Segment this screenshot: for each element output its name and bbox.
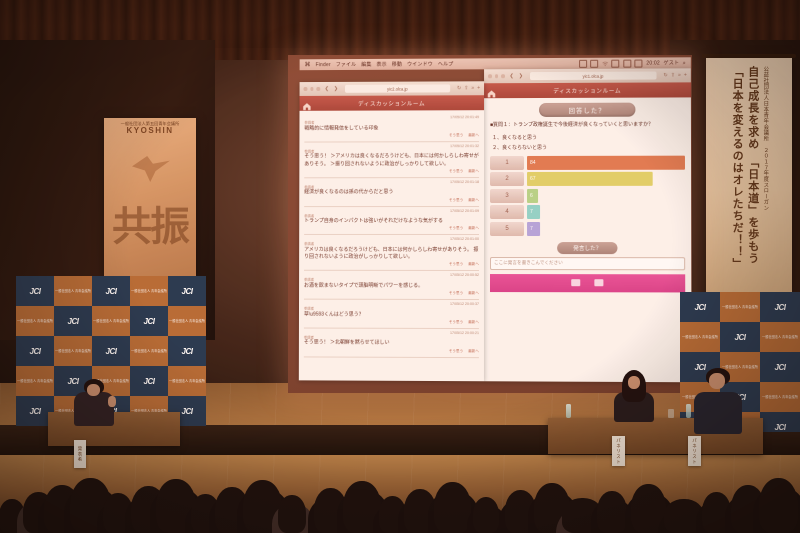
agree-button[interactable]: そう思う <box>449 169 463 174</box>
backdrop-tile: JCI <box>760 292 800 322</box>
backdrop-tile: JCI <box>760 412 800 432</box>
table-row: 2 67 <box>490 172 685 186</box>
browser-window-discussion[interactable]: ❮ ❯ yic2.olca.jp ↻ ⇪ » + ディスカッションルーム <box>299 81 484 381</box>
slogan-banner: 公益社団法人日本青年会議所 ２０１７年度スローガン 自己成長を求め 「日本道」を… <box>706 58 792 298</box>
send-icon[interactable] <box>594 279 603 286</box>
forward-icon[interactable]: ❯ <box>334 86 338 92</box>
audience-member-head <box>278 495 306 533</box>
reply-button[interactable]: 最新へ <box>468 133 479 138</box>
screen-share-icon[interactable] <box>579 59 587 67</box>
backdrop-tile: JCI <box>720 322 760 352</box>
discussion-site-title: ディスカッションルーム <box>358 99 425 107</box>
wifi-icon[interactable] <box>602 60 608 66</box>
menu-item-edit[interactable]: 編集 <box>361 61 371 68</box>
bird-graphic-icon <box>132 156 170 182</box>
post-body: 草\u9593くんはどう思う？ <box>304 311 479 319</box>
bar-value-2: 67 <box>527 172 653 186</box>
backdrop-tile: JCI <box>760 352 800 382</box>
reply-button[interactable]: 最新へ <box>468 320 479 325</box>
address-bar-poll[interactable]: yic1.olca.jp <box>530 71 657 80</box>
jci-logo: JCI <box>735 333 746 342</box>
bar-track-1: 84 <box>527 155 685 169</box>
menu-item-go[interactable]: 移動 <box>392 61 402 68</box>
backdrop-tile: 一般社団法人 青年会議所 <box>130 276 168 306</box>
jci-logo: JCI <box>30 347 41 356</box>
comment-input[interactable]: ここに発言を書きこんでください <box>490 257 685 270</box>
home-icon[interactable] <box>487 85 496 94</box>
backdrop-org-text: 一般社団法人 青年会議所 <box>17 319 53 323</box>
reload-icon[interactable]: ↻ <box>457 85 461 91</box>
backdrop-org-text: 一般社団法人 青年会議所 <box>93 319 129 323</box>
jci-logo: JCI <box>106 287 117 296</box>
post-body: 経済が良くなるのは孫の代からだと思う <box>304 189 479 196</box>
backdrop-tile: JCI <box>680 292 720 322</box>
speaker-hand <box>108 396 116 407</box>
banner-slogan-line1: 自己成長を求め 「日本道」を歩もう <box>746 66 758 290</box>
close-icon[interactable] <box>303 87 306 90</box>
post-author: 参講者 <box>304 277 479 282</box>
minimize-icon[interactable] <box>495 74 498 78</box>
reply-button[interactable]: 最新へ <box>468 169 479 174</box>
browser-window-poll[interactable]: ❮ ❯ yic1.olca.jp ↻ ⇪ » + ディスカッションルーム <box>484 68 692 382</box>
backdrop-tile: JCI <box>130 366 168 396</box>
post-body: そう思う！ ＞アメリカは良くなるだろうけども、日本には何かしらしわ寄せがありそう… <box>304 153 479 168</box>
backdrop-org-text: 一般社団法人 青年会議所 <box>169 319 205 323</box>
bar-track-2: 67 <box>527 172 685 186</box>
bluetooth-icon[interactable] <box>635 59 643 67</box>
agree-button[interactable]: そう思う <box>449 226 463 231</box>
agree-button[interactable]: そう思う <box>449 291 463 296</box>
jci-logo: JCI <box>695 303 706 312</box>
conference-hall-scene: 一般社団法人第五回青年会議所 KYOSHIN 共振 公益社団法人日本青年会議所 … <box>0 0 800 533</box>
backdrop-tile: 一般社団法人 青年会議所 <box>168 306 206 336</box>
backdrop-tile: JCI <box>16 336 54 366</box>
apple-menu-icon[interactable]: ⌘ <box>305 62 311 68</box>
jci-logo: JCI <box>182 407 193 416</box>
home-icon[interactable] <box>302 98 311 107</box>
jci-logo: JCI <box>775 363 786 372</box>
poster-header-text: 一般社団法人第五回青年会議所 <box>104 118 196 126</box>
bar-value-1: 84 <box>527 155 685 169</box>
jci-logo: JCI <box>30 407 41 416</box>
image-upload-icon[interactable] <box>571 279 580 286</box>
jci-logo: JCI <box>30 287 41 296</box>
backdrop-tile: 一般社団法人 青年会議所 <box>760 382 800 412</box>
poll-site-header: ディスカッションルーム <box>484 82 691 98</box>
drinking-glass <box>668 409 674 418</box>
menu-item-window[interactable]: ウインドウ <box>407 61 433 68</box>
backdrop-org-text: 一般社団法人 青年会議所 <box>131 289 167 293</box>
search-icon[interactable]: ⌕ <box>683 60 686 66</box>
post-body: 戦略的に情報発信をしている印象 <box>304 125 479 133</box>
agree-button[interactable]: そう思う <box>449 349 463 354</box>
table-row: 1 84 <box>490 155 685 169</box>
post-body: トランプ自身のインパクトは強いがそれだけなような気がする <box>304 218 479 225</box>
backdrop-tile: JCI <box>168 276 206 306</box>
poll-option-1[interactable]: １、良くなると思う <box>492 133 685 141</box>
poll-question: ■質問１：トランプ政権誕生で今後経済が良くなっていくと思いますか？ <box>490 122 685 130</box>
projection-screen: ⌘ Finder ファイル 編集 表示 移動 ウインドウ ヘルプ <box>288 55 692 393</box>
speaker-face <box>87 384 100 396</box>
menu-item-finder[interactable]: Finder <box>316 62 331 68</box>
jci-logo: JCI <box>106 347 117 356</box>
tabs-icon[interactable]: » <box>678 72 681 78</box>
discussion-site-header: ディスカッションルーム <box>299 95 484 111</box>
bar-category-5: 5 <box>490 221 524 235</box>
bar-category-3: 3 <box>490 188 524 202</box>
forward-icon[interactable]: ❯ <box>519 73 523 79</box>
bar-track-4: 7 <box>527 205 685 219</box>
backdrop-org-text: 一般社団法人 青年会議所 <box>762 395 798 399</box>
backdrop-org-text: 一般社団法人 青年会議所 <box>55 289 91 293</box>
zoom-icon[interactable] <box>501 74 504 78</box>
backdrop-tile: 一般社団法人 青年会議所 <box>130 336 168 366</box>
projected-desktop: ⌘ Finder ファイル 編集 表示 移動 ウインドウ ヘルプ <box>289 54 694 394</box>
jci-logo: JCI <box>144 377 155 386</box>
panelist-face <box>709 373 725 389</box>
backdrop-org-text: 一般社団法人 青年会議所 <box>722 365 758 369</box>
backdrop-org-text: 一般社団法人 青年会議所 <box>682 335 718 339</box>
backdrop-tile: 一般社団法人 青年会議所 <box>168 366 206 396</box>
banner-slogan-line2: 「日本を変えるのはオレたちだ！！」 <box>731 66 743 290</box>
backdrop-tile: 一般社団法人 青年会議所 <box>16 366 54 396</box>
audience-member-head <box>759 478 798 533</box>
backdrop-tile: 一般社団法人 青年会議所 <box>16 306 54 336</box>
agree-button[interactable]: そう思う <box>449 198 463 203</box>
list-item: 17/05/12 20:01:00参講者アメリカは良くなるだろうけども、日本には… <box>304 235 479 271</box>
banner-org-line: 公益社団法人日本青年会議所 ２０１７年度スローガン <box>762 66 768 290</box>
list-item: 17/05/12 20:01:09参講者トランプ自身のインパクトは強いがそれだけ… <box>304 207 479 236</box>
minimize-icon[interactable] <box>310 87 313 90</box>
back-icon[interactable]: ❮ <box>510 73 514 79</box>
agree-button[interactable]: そう思う <box>449 262 463 267</box>
panelist-face <box>628 376 640 389</box>
bar-track-3: 6 <box>527 188 685 202</box>
discussion-page-body: ディスカッションルーム 17/05/12 20:01:49参講者戦略的に情報発信… <box>299 95 484 381</box>
reply-button[interactable]: 最新へ <box>468 349 479 354</box>
post-body: そう思う！ ＞北朝鮮を黙らせてほしい <box>304 340 479 348</box>
jci-logo: JCI <box>775 303 786 312</box>
display-icon[interactable] <box>612 59 620 67</box>
spoke-button[interactable]: 発言した？ <box>557 242 617 254</box>
poster-kanji-text: 共振 <box>104 194 196 252</box>
poll-page-body: ディスカッションルーム 回答した？ ■質問１：トランプ政権誕生で今後経済が良くな… <box>484 82 692 382</box>
list-item: 17/05/12 20:00:21参講者そう思う！ ＞北朝鮮を黙らせてほしいそう… <box>304 328 479 357</box>
backdrop-org-text: 一般社団法人 青年会議所 <box>131 349 167 353</box>
backdrop-tile: JCI <box>54 306 92 336</box>
post-body: お酒を飲まないタイプで頭脳明晰でパワーを感じる。 <box>304 282 479 290</box>
backdrop-tile: 一般社団法人 青年会議所 <box>54 276 92 306</box>
poll-option-2[interactable]: ２、良くならないと思う <box>492 143 685 150</box>
agree-button[interactable]: そう思う <box>449 320 463 325</box>
input-source-icon[interactable] <box>623 59 631 67</box>
audience-member-head <box>597 491 627 533</box>
bar-category-4: 4 <box>490 205 524 219</box>
backdrop-org-text: 一般社団法人 青年会議所 <box>169 379 205 383</box>
battery-icon[interactable] <box>590 59 598 67</box>
list-item: 17/05/12 20:01:32参講者そう思う！ ＞アメリカは良くなるだろうけ… <box>304 142 479 178</box>
bar-track-5: 7 <box>527 221 685 235</box>
reply-button[interactable]: 最新へ <box>468 198 479 203</box>
menu-bar-clock[interactable]: 20:02 <box>646 60 660 66</box>
close-icon[interactable] <box>488 75 491 79</box>
list-item: 17/05/12 20:00:52参講者お酒を飲まないタイプで頭脳明晰でパワーを… <box>304 271 479 300</box>
jci-logo: JCI <box>182 347 193 356</box>
bar-value-5: 7 <box>527 221 540 235</box>
backdrop-tile: JCI <box>16 276 54 306</box>
menu-item-view[interactable]: 表示 <box>376 61 386 68</box>
address-bar-discussion[interactable]: yic2.olca.jp <box>345 84 450 92</box>
poll-results-chart: 1 84 2 67 <box>490 155 685 235</box>
discussion-post-list: 17/05/12 20:01:49参講者戦略的に情報発信をしている印象そう思う最… <box>299 110 484 361</box>
share-icon[interactable]: ⇪ <box>671 72 675 78</box>
reload-icon[interactable]: ↻ <box>663 72 667 78</box>
back-icon[interactable]: ❮ <box>325 86 329 92</box>
reply-button[interactable]: 最新へ <box>468 291 479 296</box>
post-author: 参講者 <box>304 213 479 218</box>
post-body: アメリカは良くなるだろうけども、日本には何かしらしわ寄せがありそう。 振り回され… <box>304 247 479 262</box>
post-author: 参講者 <box>304 241 479 246</box>
comment-toolbar[interactable] <box>490 274 685 292</box>
list-item: 17/05/12 20:01:18参講者経済が良くなるのは孫の代からだと思うそう… <box>304 178 479 207</box>
backdrop-tile: JCI <box>168 336 206 366</box>
bar-value-3: 6 <box>527 188 538 202</box>
audience-member-head <box>434 482 471 533</box>
share-icon[interactable]: ⇪ <box>464 85 468 91</box>
agree-button[interactable]: そう思う <box>449 133 463 138</box>
backdrop-org-text: 一般社団法人 青年会議所 <box>17 379 53 383</box>
poll-site-title: ディスカッションルーム <box>553 86 621 94</box>
audience-member-head <box>473 497 499 533</box>
backdrop-tile: 一般社団法人 青年会議所 <box>54 336 92 366</box>
list-item: 17/05/12 20:00:37参講者草\u9593くんはどう思う？そう思う最… <box>304 300 479 329</box>
answered-button[interactable]: 回答した？ <box>539 103 635 117</box>
panelist-torso <box>694 392 742 434</box>
backdrop-org-text: 一般社団法人 青年会議所 <box>762 335 798 339</box>
new-tab-icon[interactable]: + <box>477 85 480 91</box>
jci-logo: JCI <box>68 317 79 326</box>
backdrop-org-text: 一般社団法人 青年会議所 <box>722 305 758 309</box>
backdrop-tile: 一般社団法人 青年会議所 <box>680 322 720 352</box>
backdrop-tile: JCI <box>130 306 168 336</box>
zoom-icon[interactable] <box>316 87 319 90</box>
backdrop-tile: 一般社団法人 青年会議所 <box>92 306 130 336</box>
left-poster: 一般社団法人第五回青年会議所 KYOSHIN 共振 <box>104 118 196 278</box>
jci-logo: JCI <box>182 287 193 296</box>
jci-logo: JCI <box>144 317 155 326</box>
backdrop-tile: JCI <box>92 336 130 366</box>
menu-item-file[interactable]: ファイル <box>336 61 357 68</box>
table-row: 3 6 <box>490 188 685 202</box>
poll-container: 回答した？ ■質問１：トランプ政権誕生で今後経済が良くなっていくと思いますか？ … <box>484 97 691 297</box>
table-row: 4 7 <box>490 205 685 219</box>
audience <box>0 441 800 533</box>
new-tab-icon[interactable]: + <box>684 72 687 78</box>
bar-category-1: 1 <box>490 155 524 169</box>
reply-button[interactable]: 最新へ <box>468 226 479 231</box>
menu-bar-user[interactable]: ゲスト <box>663 59 679 66</box>
list-item: 17/05/12 20:01:49参講者戦略的に情報発信をしている印象そう思う最… <box>304 113 479 142</box>
backdrop-org-text: 一般社団法人 青年会議所 <box>55 349 91 353</box>
jci-logo: JCI <box>695 363 706 372</box>
water-bottle <box>686 404 691 418</box>
jci-logo: JCI <box>68 377 79 386</box>
tabs-icon[interactable]: » <box>471 85 474 91</box>
table-row: 5 7 <box>490 221 685 235</box>
backdrop-tile: JCI <box>92 276 130 306</box>
menu-item-help[interactable]: ヘルプ <box>438 61 454 68</box>
backdrop-tile: 一般社団法人 青年会議所 <box>760 322 800 352</box>
bar-category-2: 2 <box>490 172 524 186</box>
bar-value-4: 7 <box>527 205 540 219</box>
water-bottle <box>566 404 571 418</box>
reply-button[interactable]: 最新へ <box>468 262 479 267</box>
poster-english-text: KYOSHIN <box>104 126 196 135</box>
jci-logo: JCI <box>775 423 786 432</box>
backdrop-tile: 一般社団法人 青年会議所 <box>720 292 760 322</box>
